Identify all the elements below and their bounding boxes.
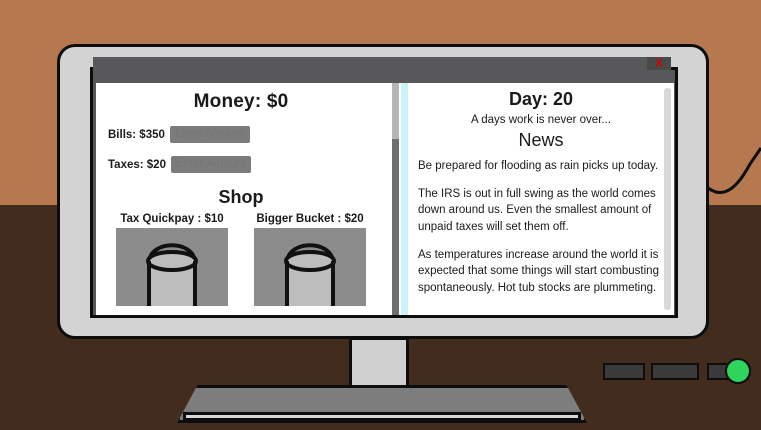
shop-item-label: Tax Quickpay : $10 <box>116 213 228 225</box>
news-item: The IRS is out in full swing as the worl… <box>418 186 664 236</box>
bucket-icon <box>254 228 366 306</box>
window-titlebar <box>93 57 671 70</box>
left-pane-scrollbar-thumb[interactable] <box>392 83 399 139</box>
day-subtitle: A days work is never over... <box>408 114 674 126</box>
shop-item-label: Bigger Bucket : $20 <box>254 213 366 225</box>
news-item: Be prepared for flooding as rain picks u… <box>418 158 664 175</box>
monitor-button-2[interactable] <box>651 363 699 380</box>
right-pane-scrollbar[interactable] <box>664 88 671 310</box>
bills-label: Bills: $350 <box>108 129 165 141</box>
shop-item-bigger-bucket[interactable]: Bigger Bucket : $20 <box>254 213 366 311</box>
news-body: Be prepared for flooding as rain picks u… <box>418 158 664 297</box>
day-title: Day: 20 <box>408 89 674 110</box>
monitor-frame: X Money: $0 Bills: $350 Taxes: $20 Shop <box>57 44 709 339</box>
shop-title: Shop <box>96 187 386 208</box>
taxes-label: Taxes: $20 <box>108 159 166 171</box>
divider-accent-strip <box>401 83 408 315</box>
right-pane: Day: 20 A days work is never over... New… <box>408 83 674 315</box>
monitor-button-1[interactable] <box>603 363 645 380</box>
shop-grid: Tax Quickpay : $10 Bigger Bu <box>96 213 386 311</box>
news-title: News <box>408 130 674 151</box>
bills-row: Bills: $350 <box>108 126 386 143</box>
monitor-stand-neck <box>349 337 409 389</box>
news-item: As temperatures increase around the worl… <box>418 247 664 297</box>
shop-item-tax-quickpay[interactable]: Tax Quickpay : $10 <box>116 213 228 311</box>
taxes-row: Taxes: $20 <box>108 156 386 173</box>
pane-divider <box>386 83 408 315</box>
bucket-icon <box>116 228 228 306</box>
monitor-stand-lip <box>183 412 581 421</box>
money-title: Money: $0 <box>96 91 386 113</box>
power-led-icon[interactable] <box>725 358 751 384</box>
close-icon[interactable]: X <box>647 57 671 70</box>
room-scene: X Money: $0 Bills: $350 Taxes: $20 Shop <box>0 0 761 430</box>
bills-amount-input[interactable] <box>170 126 250 143</box>
taxes-amount-input[interactable] <box>171 156 251 173</box>
screen-viewport: Money: $0 Bills: $350 Taxes: $20 Shop Ta… <box>96 83 674 315</box>
left-pane: Money: $0 Bills: $350 Taxes: $20 Shop Ta… <box>96 83 386 315</box>
monitor-inner-bezel: X Money: $0 Bills: $350 Taxes: $20 Shop <box>90 67 678 318</box>
